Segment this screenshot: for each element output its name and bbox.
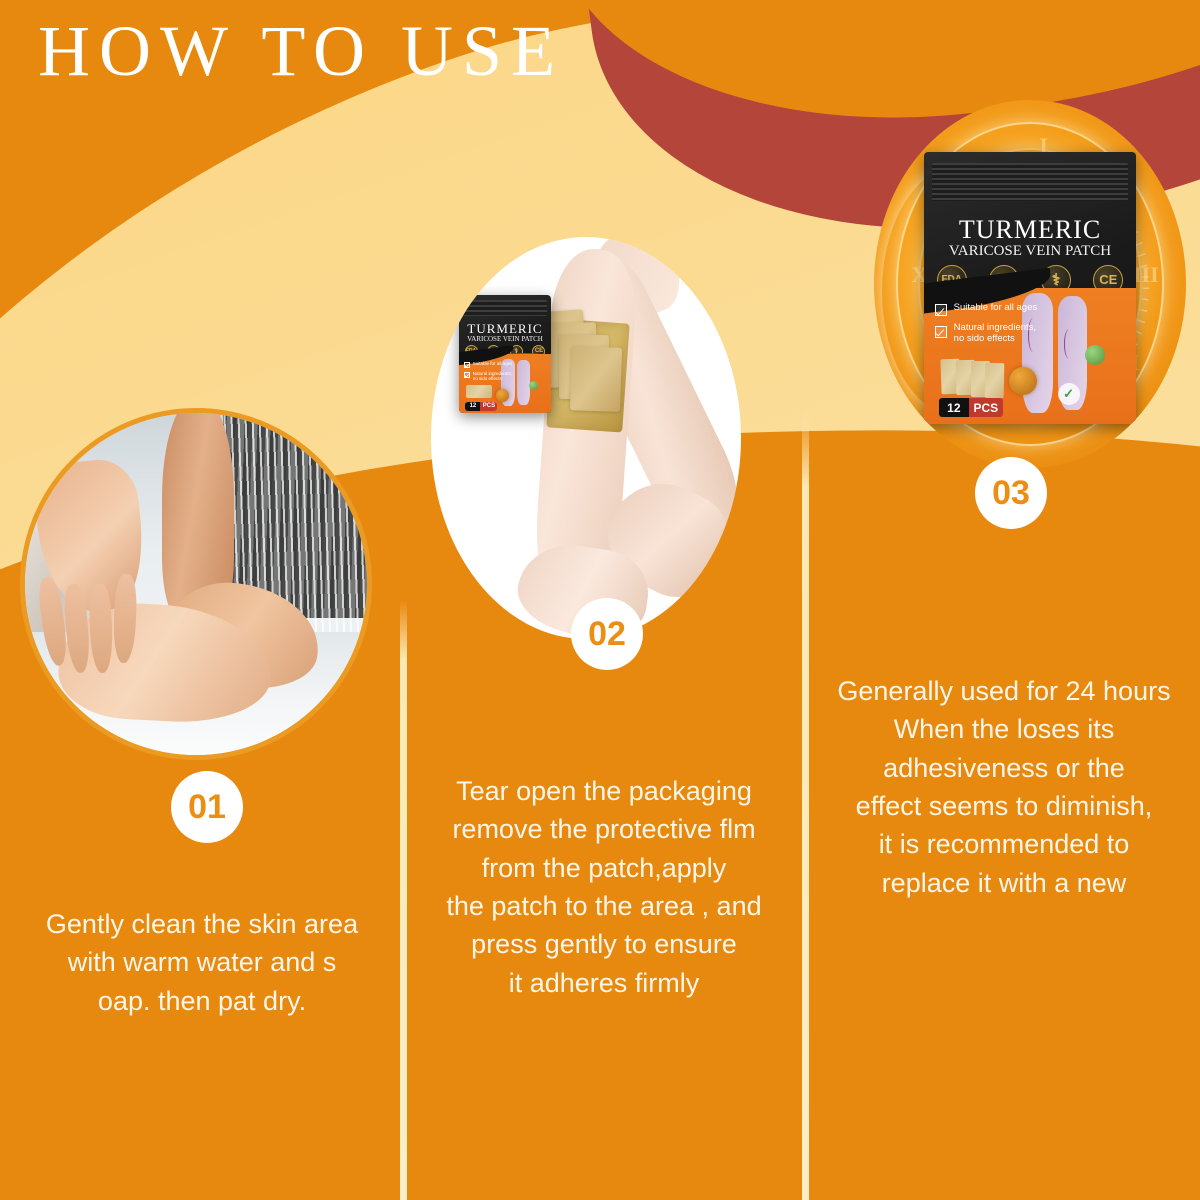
package-subtitle-small: VARICOSE VEIN PATCH bbox=[459, 335, 551, 343]
claim-text-1-small: Suitable for all ages bbox=[473, 361, 513, 366]
package-lower-panel: Suitable for all ages Natural ingredient… bbox=[924, 288, 1136, 424]
pcs-count: 12 bbox=[939, 398, 969, 417]
claim-text-2-small: Natural ingredients, no sido effects bbox=[473, 371, 512, 381]
product-package-small: TURMERIC VARICOSE VEIN PATCH FDA GMP ⚕ C… bbox=[459, 295, 551, 413]
pcs-label: 12 PCS bbox=[939, 398, 1003, 417]
patch-4 bbox=[985, 363, 1005, 399]
claim-checkbox-1-small bbox=[464, 362, 470, 368]
column-divider-1 bbox=[400, 600, 407, 1200]
step-number-badge-01: 01 bbox=[171, 771, 243, 843]
turmeric-root-icon bbox=[1009, 367, 1037, 395]
claim-text-2: Natural ingredients, no sido effects bbox=[954, 323, 1036, 344]
step-01-photo bbox=[20, 408, 372, 760]
step-description-01: Gently clean the skin area with warm wat… bbox=[8, 905, 396, 1020]
package-lower-panel-small: Suitable for all ages Natural ingredient… bbox=[459, 354, 551, 413]
green-leaf-icon bbox=[1085, 345, 1105, 365]
step-number-badge-02: 02 bbox=[571, 598, 643, 670]
step-description-02: Tear open the packaging remove the prote… bbox=[410, 772, 798, 1002]
package-subtitle: VARICOSE VEIN PATCH bbox=[924, 243, 1136, 260]
step-description-03: Generally used for 24 hours When the los… bbox=[812, 672, 1196, 902]
pcs-unit: PCS bbox=[969, 398, 1003, 417]
step-number-badge-03: 03 bbox=[975, 457, 1047, 529]
vein-leg-graphic-small-2 bbox=[517, 360, 530, 405]
claim-checkbox-2 bbox=[935, 326, 947, 338]
claim-text-1: Suitable for all ages bbox=[954, 303, 1037, 314]
vein-line-2 bbox=[1064, 329, 1074, 359]
step-03-photo: I II III IIII V VI XI X TURMERIC VARICOS… bbox=[874, 100, 1186, 468]
claim-checkbox-1 bbox=[935, 304, 947, 316]
clock-numeral-iii: III bbox=[1133, 262, 1159, 288]
pcs-unit-small: PCS bbox=[480, 402, 497, 411]
loose-patch-4 bbox=[570, 346, 622, 412]
how-to-use-infographic: HOW TO USE 01 Gently clean the skin area… bbox=[0, 0, 1200, 1200]
step-02-photo: TURMERIC VARICOSE VEIN PATCH FDA GMP ⚕ C… bbox=[431, 237, 741, 639]
pcs-label-small: 12 PCS bbox=[465, 402, 497, 411]
page-title: HOW TO USE bbox=[38, 12, 564, 91]
package-brand: TURMERIC bbox=[924, 215, 1136, 245]
product-package-large: TURMERIC VARICOSE VEIN PATCH FDA GMP ⚕ C… bbox=[924, 152, 1136, 424]
check-bubble-icon: ✓ bbox=[1058, 383, 1080, 405]
package-zip-seal-large bbox=[932, 163, 1127, 201]
green-leaf-icon-small bbox=[529, 381, 538, 390]
patch-stack-small bbox=[466, 385, 492, 398]
pcs-count-small: 12 bbox=[465, 402, 480, 411]
claim-checkbox-2-small bbox=[464, 372, 470, 378]
package-zip-seal bbox=[463, 300, 548, 317]
column-divider-2 bbox=[802, 408, 809, 1200]
